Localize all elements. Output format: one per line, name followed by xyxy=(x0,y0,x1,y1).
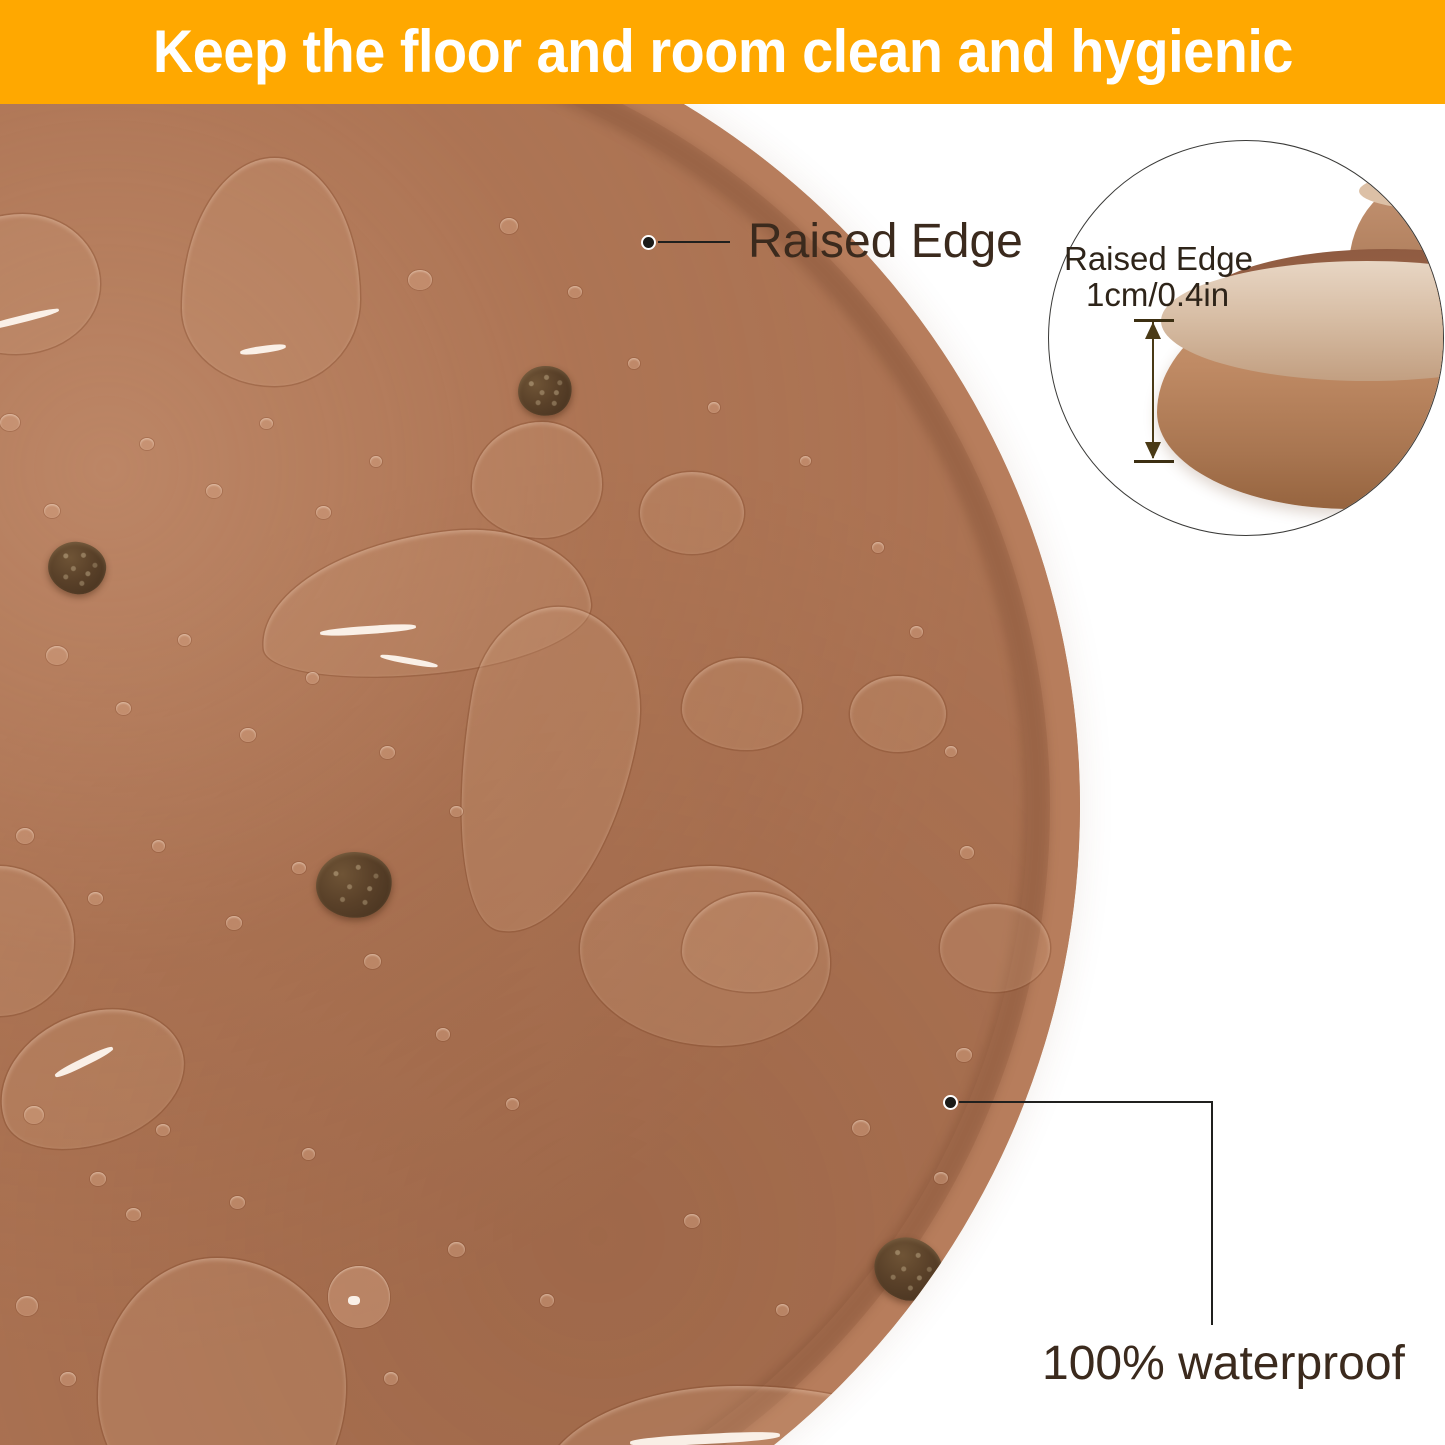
water-droplet xyxy=(568,286,582,298)
water-droplet xyxy=(370,456,382,467)
water-droplet xyxy=(448,1242,465,1257)
raised-edge-marker-dot xyxy=(641,235,656,250)
water-droplet xyxy=(140,438,154,450)
water-droplet xyxy=(226,916,242,930)
water-droplet xyxy=(956,1048,972,1062)
waterproof-leader-line-vertical xyxy=(1211,1101,1213,1325)
water-droplet xyxy=(934,1172,948,1184)
waterproof-marker-dot xyxy=(943,1095,958,1110)
water-droplet xyxy=(0,414,20,431)
dimension-cap-bottom xyxy=(1134,460,1174,463)
header-banner: Keep the floor and room clean and hygien… xyxy=(0,0,1445,104)
inset-label-raised-edge: Raised Edge xyxy=(1064,240,1253,278)
water-droplet xyxy=(708,402,720,413)
water-droplet xyxy=(852,1120,870,1136)
water-droplet xyxy=(380,746,395,759)
water-droplet xyxy=(316,506,331,519)
callout-label-waterproof: 100% waterproof xyxy=(1042,1336,1405,1391)
water-droplet xyxy=(540,1294,554,1307)
pet-feeding-tray xyxy=(0,104,1080,1445)
water-highlight xyxy=(348,1296,360,1305)
water-puddle xyxy=(640,472,744,554)
water-droplet xyxy=(306,672,319,684)
water-droplet xyxy=(384,1372,398,1385)
dimension-arrowhead-bottom xyxy=(1145,442,1161,459)
water-droplet xyxy=(24,1106,44,1124)
water-droplet xyxy=(960,846,974,859)
water-droplet xyxy=(240,728,256,742)
water-droplet xyxy=(60,1372,76,1386)
dimension-arrowhead-top xyxy=(1145,322,1161,339)
water-puddle xyxy=(682,658,802,750)
water-droplet xyxy=(436,1028,450,1041)
water-droplet xyxy=(776,1304,789,1316)
water-droplet xyxy=(450,806,463,817)
water-droplet xyxy=(88,892,103,905)
water-droplet xyxy=(910,626,923,638)
water-droplet xyxy=(364,954,381,969)
inset-detail-circle xyxy=(1048,140,1444,536)
water-droplet xyxy=(945,746,957,757)
water-droplet xyxy=(16,828,34,844)
water-droplet xyxy=(152,840,165,852)
water-puddle xyxy=(940,904,1050,992)
raised-edge-leader-line xyxy=(658,241,730,243)
water-droplet xyxy=(44,504,60,518)
water-droplet xyxy=(292,862,306,874)
water-droplet xyxy=(684,1214,700,1228)
water-droplet xyxy=(16,1296,38,1316)
water-droplet xyxy=(156,1124,170,1136)
water-droplet xyxy=(46,646,68,665)
water-droplet xyxy=(260,418,273,429)
water-droplet xyxy=(872,542,884,553)
page-title: Keep the floor and room clean and hygien… xyxy=(152,22,1292,82)
water-droplet xyxy=(302,1148,315,1160)
water-droplet xyxy=(178,634,191,646)
dimension-arrow-line xyxy=(1152,322,1154,458)
inset-label-dimension: 1cm/0.4in xyxy=(1086,276,1229,314)
waterproof-leader-line-horizontal xyxy=(959,1101,1213,1103)
water-droplet xyxy=(230,1196,245,1209)
water-puddle xyxy=(850,676,946,752)
water-droplet xyxy=(800,456,811,466)
product-feature-image: Keep the floor and room clean and hygien… xyxy=(0,0,1445,1445)
water-droplet xyxy=(500,218,518,234)
water-droplet xyxy=(126,1208,141,1221)
water-droplet xyxy=(408,270,432,290)
water-droplet xyxy=(206,484,222,498)
water-droplet xyxy=(90,1172,106,1186)
callout-label-raised-edge: Raised Edge xyxy=(748,214,1023,269)
water-droplet xyxy=(506,1098,519,1110)
water-droplet xyxy=(628,358,640,369)
water-droplet xyxy=(116,702,131,715)
